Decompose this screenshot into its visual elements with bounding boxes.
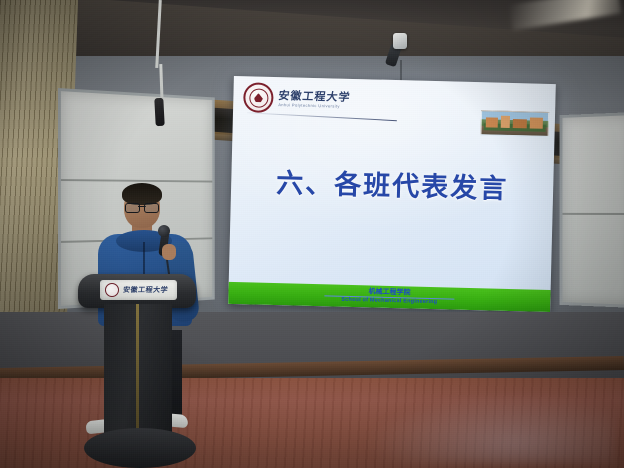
microphone-head bbox=[158, 225, 170, 237]
thumbnail-building bbox=[501, 116, 510, 128]
speaker-hand bbox=[162, 244, 176, 260]
thumbnail-building bbox=[513, 119, 527, 128]
university-name-block: 安徽工程大学 Anhui Polytechnic University bbox=[278, 90, 350, 109]
whiteboard-divider bbox=[563, 213, 624, 215]
projection-screen: 安徽工程大学 Anhui Polytechnic University 六、各班… bbox=[228, 76, 556, 312]
thumbnail-building bbox=[530, 117, 543, 128]
podium-plate-text: 安徽工程大学 bbox=[122, 285, 168, 295]
glasses-lens-right bbox=[144, 203, 159, 213]
slide-footer-school-cn: 机械工程学院 bbox=[368, 289, 410, 297]
cable-connector bbox=[154, 98, 164, 126]
floor-light-reflection bbox=[364, 394, 614, 464]
glasses-lens-left bbox=[125, 203, 140, 213]
campus-photo-thumbnail bbox=[481, 110, 550, 137]
whiteboard-panel-right bbox=[560, 112, 624, 308]
podium-emblem-icon bbox=[105, 283, 119, 297]
podium-accent-stripe bbox=[136, 304, 139, 434]
thumbnail-building bbox=[486, 117, 498, 127]
university-name-cn: 安徽工程大学 bbox=[278, 90, 351, 103]
slide-footer-school-en: School of Mechanical Engineering bbox=[341, 298, 437, 306]
lecture-hall-photo: 安徽工程大学 Anhui Polytechnic University 六、各班… bbox=[0, 0, 624, 468]
podium-name-plate: 安徽工程大学 bbox=[100, 280, 177, 300]
speaker-glasses-icon bbox=[125, 203, 159, 211]
slide-title: 六、各班代表发言 bbox=[231, 160, 554, 207]
whiteboard-divider bbox=[61, 179, 212, 182]
slide-header-logo: 安徽工程大学 Anhui Polytechnic University bbox=[243, 82, 351, 115]
presentation-slide: 安徽工程大学 Anhui Polytechnic University 六、各班… bbox=[228, 76, 556, 312]
wall-mounted-camera-icon bbox=[393, 33, 407, 49]
emblem-mark bbox=[254, 93, 263, 102]
podium-base bbox=[84, 428, 196, 468]
university-emblem-icon bbox=[243, 82, 274, 113]
speaker-hair bbox=[122, 183, 162, 205]
